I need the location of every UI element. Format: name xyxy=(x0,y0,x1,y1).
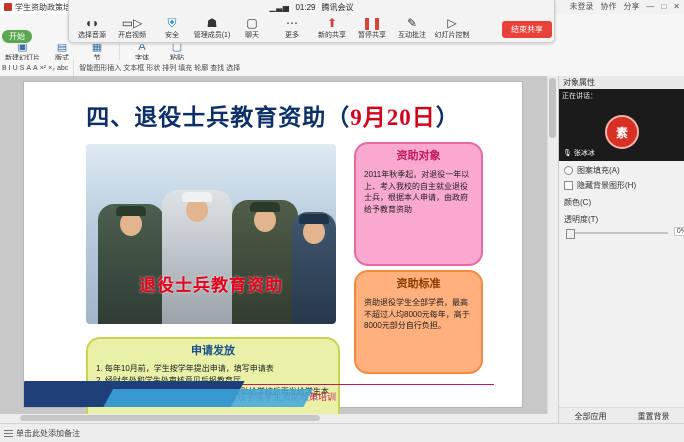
signal-icon: ▁▃▅ xyxy=(270,3,290,12)
transparency-field-label: 透明度(T) xyxy=(564,215,598,224)
mic-icon: 🎙 xyxy=(563,149,572,157)
panel-footer: 全部应用 重置背景 xyxy=(559,407,684,424)
hamburger-icon xyxy=(4,430,13,437)
ribbon-start-group: 开始 xyxy=(2,30,32,43)
smartart-button[interactable]: 智能图形插入 xyxy=(79,63,121,73)
manage-members-label: 管理成员(1) xyxy=(194,30,231,40)
video-toggle-button[interactable]: ▭▷ 开启视频 xyxy=(113,17,151,40)
soldier-cap-1 xyxy=(116,206,146,216)
new-share-button[interactable]: ⬆ 新的共享 xyxy=(313,17,351,40)
slide-title: 四、退役士兵教育资助（9月20日） xyxy=(24,98,522,132)
audio-toggle-button[interactable]: ◖◗ 选择音源 xyxy=(73,17,111,40)
chat-bubble-icon: ▢ xyxy=(246,17,257,30)
play-icon: ▷ xyxy=(447,17,456,30)
color-field[interactable]: 颜色(C) xyxy=(564,197,684,208)
new-share-label: 新的共享 xyxy=(318,30,346,40)
right-panel: 对象属性 正在讲话： 素 🎙 张冰冰 图案填充(A) 隐藏背景图形(H) 颜色(… xyxy=(558,76,684,424)
underline-button[interactable]: U xyxy=(13,65,18,72)
section-label: 节 xyxy=(94,53,101,60)
soldier-figure-4 xyxy=(292,212,336,324)
decor-shape-blue xyxy=(95,389,313,407)
find-button[interactable]: 查找 xyxy=(210,63,224,73)
font-color-button[interactable]: A xyxy=(26,65,31,72)
slide-decoration xyxy=(24,373,522,407)
new-slide-label: 新建幻灯片 xyxy=(5,53,40,60)
headphone-icon: ◖◗ xyxy=(85,17,100,30)
reset-background-button[interactable]: 重置背景 xyxy=(638,411,670,422)
chat-button[interactable]: ▢ 聊天 xyxy=(233,17,271,40)
minimize-button[interactable]: — xyxy=(646,2,654,11)
speaker-name-row: 🎙 张冰冰 xyxy=(563,148,595,158)
meeting-time: 01:29 xyxy=(295,3,315,12)
bold-button[interactable]: B xyxy=(2,65,7,72)
status-bar: 单击此处添加备注 xyxy=(0,423,684,442)
strikethrough-button[interactable]: S xyxy=(20,65,25,72)
pause-icon: ❚❚ xyxy=(362,17,382,30)
font-icon: A xyxy=(138,44,145,53)
layout-button[interactable]: ▤ 版式 xyxy=(46,44,78,60)
horizontal-scrollbar[interactable] xyxy=(0,414,548,423)
photo-caption: 退役士兵教育资助 xyxy=(86,271,336,296)
slide-canvas-area: 四、退役士兵教育资助（9月20日） xyxy=(0,76,558,424)
meeting-toolbar-items: ◖◗ 选择音源 ▭▷ 开启视频 ⛨ 安全 ☗ 管理成员(1) ▢ 聊天 ⋯ 更多 xyxy=(69,14,558,42)
hide-bg-option[interactable]: 隐藏背景图形(H) xyxy=(564,180,684,191)
interactive-note-button[interactable]: ✎ 互动批注 xyxy=(393,17,431,40)
soldier-figure-3 xyxy=(232,200,298,324)
clear-format-button[interactable]: abc xyxy=(57,65,68,72)
transparency-slider[interactable]: 0% xyxy=(564,228,684,238)
meeting-toolbar: ▁▃▅ 01:29 腾讯会议 ◖◗ 选择音源 ▭▷ 开启视频 ⛨ 安全 ☗ 管理… xyxy=(68,0,555,43)
font-group-button[interactable]: A 字体 xyxy=(126,44,158,60)
powerpoint-icon xyxy=(4,3,12,11)
start-tab[interactable]: 开始 xyxy=(2,30,32,43)
checkbox-icon[interactable] xyxy=(564,181,573,190)
apply-and-issue-heading: 申请发放 xyxy=(88,339,338,361)
notes-area[interactable]: 单击此处添加备注 xyxy=(4,428,80,439)
avatar: 素 xyxy=(605,115,639,149)
window-controls: 未登录 协作 分享 — □ ✕ xyxy=(569,1,680,12)
subscript-button[interactable]: ×₂ xyxy=(48,65,55,72)
horizontal-scroll-thumb[interactable] xyxy=(20,415,320,421)
speaker-name: 张冰冰 xyxy=(574,148,595,158)
close-button[interactable]: ✕ xyxy=(673,2,680,11)
notes-placeholder: 单击此处添加备注 xyxy=(16,428,80,439)
meeting-app-title: 腾讯会议 xyxy=(322,2,354,13)
end-share-button[interactable]: 结束共享 xyxy=(502,21,552,38)
select-button[interactable]: 选择 xyxy=(226,63,240,73)
slide-title-date: 9月20日 xyxy=(350,105,436,130)
new-slide-icon: ▣ xyxy=(17,44,27,53)
section-icon: ▦ xyxy=(92,44,102,53)
application-window: 学生资助政策培训.pptx + 未登录 协作 分享 — □ ✕ 开始 ▣ 新建幻… xyxy=(0,0,684,442)
video-toggle-label: 开启视频 xyxy=(118,30,146,40)
soldier-figure-2 xyxy=(162,190,232,324)
new-slide-button[interactable]: ▣ 新建幻灯片 xyxy=(2,44,43,60)
layout-label: 版式 xyxy=(55,53,69,60)
pause-share-label: 暂停共享 xyxy=(358,30,386,40)
soldier-cap-3 xyxy=(250,202,280,212)
share-button[interactable]: 分享 xyxy=(623,1,639,12)
slider-track xyxy=(566,232,668,234)
vertical-scrollbar[interactable] xyxy=(547,76,558,424)
upload-share-icon: ⬆ xyxy=(327,17,337,30)
soldier-figure-1 xyxy=(98,204,164,324)
funding-standard-body: 资助退役学生全部学费，最高不超过人均8000元每年，高于8000元部分自行负担。 xyxy=(356,294,481,335)
object-properties-header: 对象属性 xyxy=(559,76,684,90)
panel-title: 对象属性 xyxy=(563,77,595,88)
transparency-field[interactable]: 透明度(T) 0% xyxy=(564,214,684,238)
more-label: 更多 xyxy=(285,30,299,40)
panel-options: 图案填充(A) 隐藏背景图形(H) 颜色(C) 透明度(T) 0% xyxy=(559,161,684,242)
shield-icon: ⛨ xyxy=(167,17,176,30)
italic-button[interactable]: I xyxy=(9,65,11,72)
ribbon-divider-2 xyxy=(73,60,74,76)
maximize-button[interactable]: □ xyxy=(661,2,666,11)
paste-label: 粘贴 xyxy=(170,53,184,60)
pencil-icon: ✎ xyxy=(407,17,417,30)
picture-fill-label: 图案填充(A) xyxy=(577,165,620,176)
outline-button[interactable]: 轮廓 xyxy=(194,63,208,73)
slide-title-prefix: 四、退役士兵教育资助（ xyxy=(86,105,350,130)
funding-target-heading: 资助对象 xyxy=(356,144,481,166)
clipboard-icon: ▢ xyxy=(172,44,182,53)
slide-title-suffix: ） xyxy=(436,105,460,130)
fill-button[interactable]: 填充 xyxy=(178,63,192,73)
layout-icon: ▤ xyxy=(57,44,67,53)
hide-bg-label: 隐藏背景图形(H) xyxy=(577,180,636,191)
slider-knob[interactable] xyxy=(566,229,575,239)
ellipsis-icon: ⋯ xyxy=(286,17,298,30)
funding-standard-box[interactable]: 资助标准 资助退役学生全部学费，最高不超过人均8000元每年，高于8000元部分… xyxy=(354,270,483,374)
speaking-now-label: 正在讲话： xyxy=(562,91,597,101)
collaborate-button[interactable]: 协作 xyxy=(600,1,616,12)
speaker-video-tile[interactable]: 正在讲话： 素 🎙 张冰冰 xyxy=(559,89,684,161)
account-status[interactable]: 未登录 xyxy=(569,1,593,12)
shape-button[interactable]: 形状 xyxy=(146,63,160,73)
funding-standard-heading: 资助标准 xyxy=(356,272,481,294)
ribbon-row-format: B I U S A A ×² ×₂ abc 智能图形插入 文本框 形状 排列 填… xyxy=(0,60,684,76)
slide-page[interactable]: 四、退役士兵教育资助（9月20日） xyxy=(23,81,523,408)
security-label: 安全 xyxy=(165,30,179,40)
slide-control-button[interactable]: ▷ 幻灯片控制 xyxy=(433,17,471,40)
vertical-scroll-thumb[interactable] xyxy=(549,78,556,138)
font-label: 字体 xyxy=(135,53,149,60)
soldiers-photo[interactable]: 退役士兵教育资助 xyxy=(86,144,336,324)
textbox-button[interactable]: 文本框 xyxy=(123,63,144,73)
highlight-button[interactable]: A xyxy=(33,65,38,72)
audio-toggle-label: 选择音源 xyxy=(78,30,106,40)
arrange-button[interactable]: 排列 xyxy=(162,63,176,73)
chat-label: 聊天 xyxy=(245,30,259,40)
more-button[interactable]: ⋯ 更多 xyxy=(273,17,311,40)
meeting-toolbar-header: ▁▃▅ 01:29 腾讯会议 xyxy=(69,0,554,14)
ribbon-row-insert: ▣ 新建幻灯片 ▤ 版式 ▦ 节 A 字体 ▢ 粘贴 xyxy=(0,44,684,60)
ribbon-divider xyxy=(119,44,120,60)
pause-share-button[interactable]: ❚❚ 暂停共享 xyxy=(353,17,391,40)
apply-all-button[interactable]: 全部应用 xyxy=(575,411,607,422)
paste-button[interactable]: ▢ 粘贴 xyxy=(161,44,193,60)
transparency-value[interactable]: 0% xyxy=(674,227,684,236)
color-field-label: 颜色(C) xyxy=(564,198,591,207)
manage-members-button[interactable]: ☗ 管理成员(1) xyxy=(193,17,231,40)
radio-icon[interactable] xyxy=(564,166,573,175)
section-button[interactable]: ▦ 节 xyxy=(81,44,113,60)
interactive-note-label: 互动批注 xyxy=(398,30,426,40)
funding-target-body: 2011年秋季起，对退役一年以上、考入我校的自主就业退役士兵，根据本人申请，由政… xyxy=(356,166,481,218)
slide-control-label: 幻灯片控制 xyxy=(435,30,470,40)
picture-fill-option[interactable]: 图案填充(A) xyxy=(564,165,684,176)
funding-target-box[interactable]: 资助对象 2011年秋季起，对退役一年以上、考入我校的自主就业退役士兵，根据本人… xyxy=(354,142,483,266)
camera-icon: ▭▷ xyxy=(122,17,143,30)
soldier-cap-2 xyxy=(182,192,212,202)
security-button[interactable]: ⛨ 安全 xyxy=(153,17,191,40)
person-icon: ☗ xyxy=(207,17,218,30)
soldier-cap-4 xyxy=(299,214,329,224)
superscript-button[interactable]: ×² xyxy=(40,65,46,72)
